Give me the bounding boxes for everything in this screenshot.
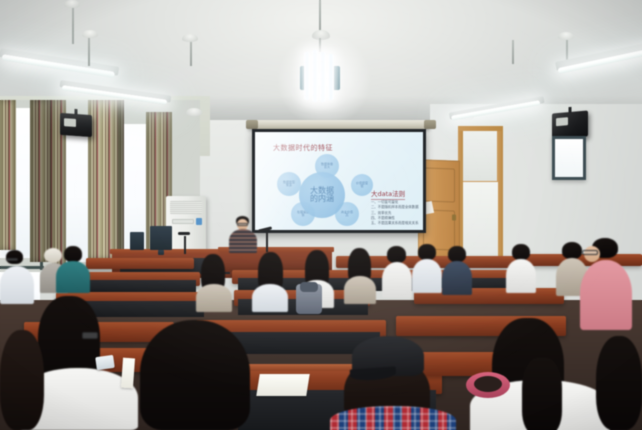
pendant-tube-4 xyxy=(328,54,334,100)
slide-side-line-2: 二、不是随机样本而是全体数据 xyxy=(371,205,418,209)
student-mid1-torso xyxy=(196,284,232,312)
student-mid-7 xyxy=(442,246,472,294)
student-mid9-hair xyxy=(562,242,582,259)
microphone-head xyxy=(178,232,190,235)
ceiling-cup-1 xyxy=(64,0,80,8)
front-center-hair xyxy=(140,320,250,430)
student-mid5-hair xyxy=(387,246,406,263)
student-mid-2 xyxy=(252,252,288,310)
student-mid2-torso xyxy=(252,284,288,312)
curtain-6 xyxy=(0,100,16,250)
student-mid4-torso xyxy=(344,276,376,304)
light-rod-5 xyxy=(512,40,514,64)
podium-equipment xyxy=(130,232,144,250)
slide-bubble-left-label: 数据类型繁多 xyxy=(283,181,295,187)
slide-side-line-4: 四、不是精确性 xyxy=(371,216,395,220)
ac-badge xyxy=(196,218,202,225)
slide-side-heading: 大data法则 xyxy=(371,188,405,200)
curtain-3 xyxy=(88,100,118,260)
ac-control-panel[interactable] xyxy=(172,219,194,224)
student-pink-shirt xyxy=(580,238,632,328)
slide-surface: 大数据时代的特征 数据体量巨大 数据类型繁多 价值密度低 处理速度快 商业价值高 xyxy=(255,132,423,230)
student-mid8-hair xyxy=(512,244,530,260)
projector-screen: 大数据时代的特征 数据体量巨大 数据类型繁多 价值密度低 处理速度快 商业价值高 xyxy=(252,126,426,236)
slide-side-line-5: 五、不是因果关系而是相关关系 xyxy=(371,221,418,225)
door-transom xyxy=(462,130,498,182)
bench-row-b-left-face xyxy=(84,280,196,292)
backpack-flap xyxy=(300,282,318,292)
screen-cap-left xyxy=(246,120,258,129)
student-cap-plaid xyxy=(330,336,450,430)
student-teal xyxy=(56,246,90,292)
held-paper xyxy=(121,358,135,389)
pendant-tube-2 xyxy=(312,50,318,102)
right-window-glass xyxy=(555,139,583,177)
student-mid-1 xyxy=(196,254,230,310)
right-small-window xyxy=(552,136,586,180)
edge-left-hair xyxy=(0,330,44,430)
speaker-bracket-left xyxy=(75,109,78,115)
door-panel-upper xyxy=(423,167,455,202)
ceiling-cup-4 xyxy=(186,108,202,116)
curtain-1 xyxy=(30,100,52,262)
pink-handbag-opening xyxy=(474,376,502,392)
student-edge-left xyxy=(0,330,44,430)
bench-row-a-left xyxy=(86,258,194,269)
slide-center-bubble: 大数据 的内涵 xyxy=(299,172,345,218)
paper-sheet-on-desk xyxy=(256,374,309,396)
student-mid6-torso xyxy=(412,259,442,293)
presenter-mic-stand xyxy=(266,232,268,252)
student-mid8-torso xyxy=(506,259,536,293)
pendant-rod-lower xyxy=(319,38,321,52)
student-mid-8 xyxy=(506,244,536,292)
student-mid5-torso xyxy=(382,262,412,298)
door-open-gap xyxy=(463,182,498,256)
student-mid-6 xyxy=(412,244,442,292)
lecture-hall-photo: 大数据时代的特征 数据体量巨大 数据类型繁多 价值密度低 处理速度快 商业价值高 xyxy=(0,0,642,430)
wall-speaker-left xyxy=(60,113,92,137)
slide-bubble-top-label: 数据体量巨大 xyxy=(321,163,333,169)
slide-title: 大数据时代的特征 xyxy=(273,143,333,153)
pendant-canopy xyxy=(312,30,330,40)
student-mid6-hair xyxy=(418,244,436,260)
monitor-stand xyxy=(158,250,164,255)
pink-shirt-glasses xyxy=(582,250,598,255)
slide-bubble-left: 数据类型繁多 xyxy=(277,172,301,196)
screen-cap-right xyxy=(424,120,436,129)
student-teal-torso xyxy=(56,261,90,293)
student-mid-5 xyxy=(382,246,412,296)
slide-bubble-right-label: 价值密度低 xyxy=(356,182,368,188)
screen-roller-housing xyxy=(248,120,430,129)
presenter-torso xyxy=(229,229,257,253)
slide-bubble-br-label: 商业价值高 xyxy=(341,211,353,217)
student-front-center xyxy=(140,320,250,430)
ceiling-cup-6 xyxy=(558,32,574,40)
ceiling-cup-2 xyxy=(82,30,98,38)
slide-side-line-3: 三、效率优先 xyxy=(371,211,391,215)
pendant-tube-3 xyxy=(320,52,326,102)
speaker-label-right xyxy=(556,117,568,126)
slide-center-line2: 的内涵 xyxy=(310,195,334,203)
slide-bubble-right: 价值密度低 xyxy=(351,174,373,196)
student-mid7-torso xyxy=(442,261,472,295)
edge-right-hair xyxy=(596,336,642,430)
ac-grille xyxy=(170,201,202,214)
curtain-4 xyxy=(118,100,124,256)
student-bl1-hair xyxy=(6,250,23,264)
pendant-tube-1 xyxy=(304,52,310,100)
microphone-stand xyxy=(184,236,186,254)
slide-side-body: 一、一切皆可量化 二、不是随机样本而是全体数据 三、效率优先 四、不是精确性 五… xyxy=(371,200,418,226)
front-right-ponytail xyxy=(522,358,562,430)
student-bl1-glasses xyxy=(6,258,18,261)
screen-border: 大数据时代的特征 数据体量巨大 数据类型繁多 价值密度低 处理速度快 商业价值高 xyxy=(252,129,426,233)
presenter-glasses xyxy=(237,223,248,226)
door-frame-right xyxy=(498,126,503,256)
door-frame-top xyxy=(458,126,503,131)
student-teal-hair xyxy=(64,246,82,262)
ceiling-cup-3 xyxy=(182,34,198,42)
student-edge-right xyxy=(596,336,642,430)
computer-monitor xyxy=(150,226,172,250)
presenter xyxy=(228,216,258,256)
slide-side-line-1: 一、一切皆可量化 xyxy=(371,200,398,204)
speaker-bracket-right xyxy=(569,107,572,113)
smartphone[interactable] xyxy=(95,355,115,370)
student-mid-4 xyxy=(344,248,376,302)
door-handle[interactable] xyxy=(452,214,456,220)
plaid-shirt-torso xyxy=(330,406,456,430)
speaker-label-left xyxy=(64,118,76,127)
student-mid7-hair xyxy=(448,246,466,262)
front-left-glasses xyxy=(82,332,98,339)
